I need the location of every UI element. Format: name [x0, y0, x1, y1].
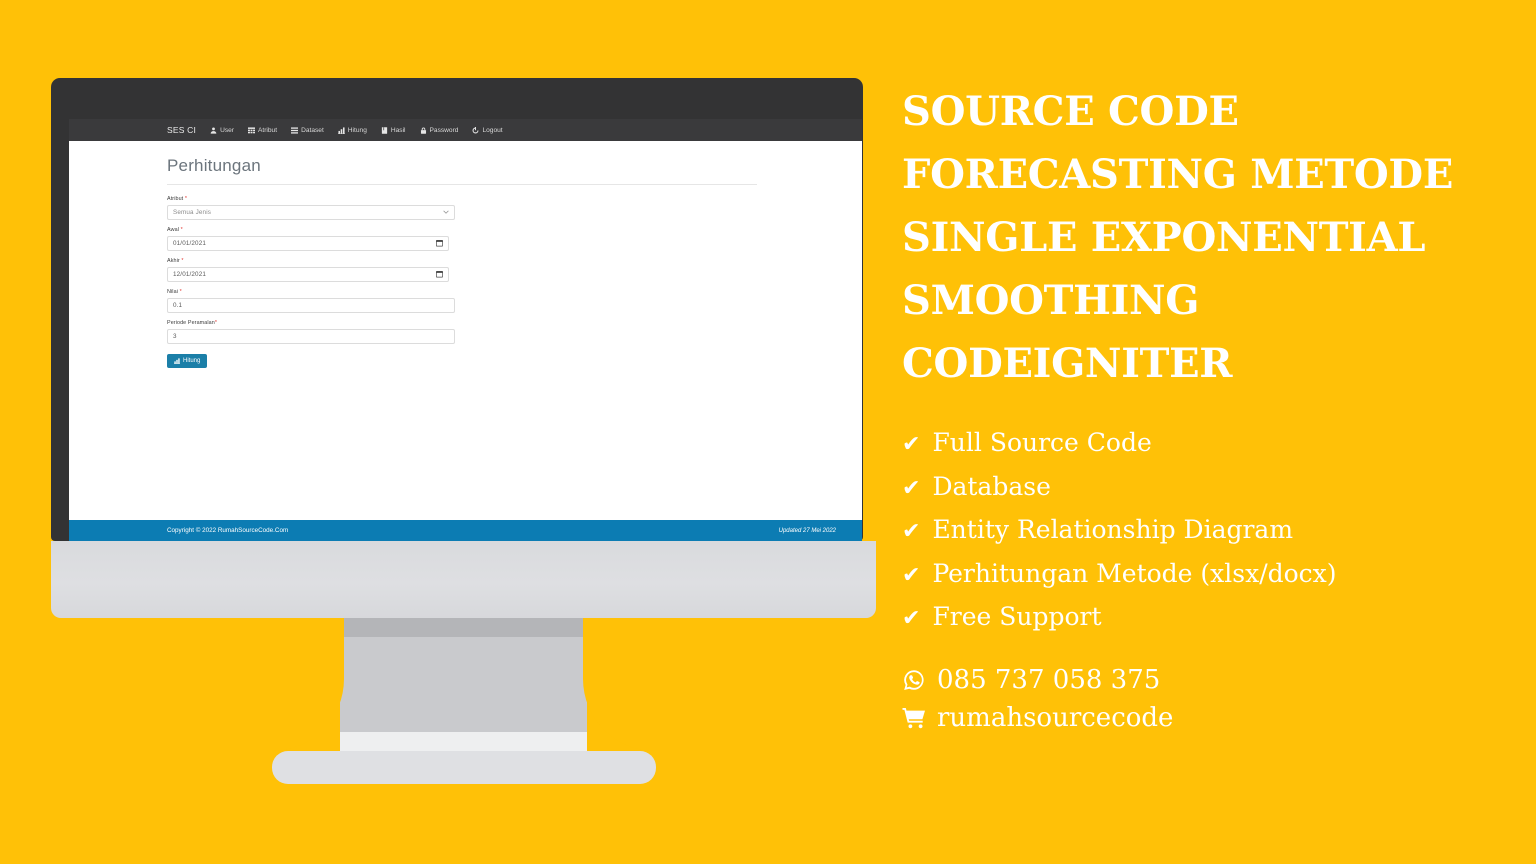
feature-label: Free Support	[932, 595, 1101, 639]
nav-label: Password	[430, 127, 459, 134]
feature-item: ✔ Full Source Code	[902, 421, 1536, 465]
user-icon	[210, 127, 217, 134]
feature-list: ✔ Full Source Code ✔ Database ✔ Entity R…	[902, 421, 1536, 639]
nav-label: Atribut	[258, 127, 277, 134]
check-icon: ✔	[902, 565, 920, 587]
footer-copyright: Copyright © 2022 RumahSourceCode.Com	[167, 527, 288, 534]
required-marker: *	[185, 196, 187, 202]
nav-item-hitung[interactable]: Hitung	[338, 127, 367, 134]
date-input-akhir[interactable]: 12/01/2021	[167, 267, 449, 282]
app-navbar: SES CI User Atribut	[69, 119, 862, 141]
nav-item-dataset[interactable]: Dataset	[291, 127, 324, 134]
whatsapp-icon	[902, 668, 926, 692]
check-icon: ✔	[902, 608, 920, 630]
feature-label: Perhitungan Metode (xlsx/docx)	[932, 552, 1336, 596]
bar-chart-icon	[174, 358, 180, 364]
monitor-mockup: SES CI User Atribut	[0, 0, 900, 800]
app-footer: Copyright © 2022 RumahSourceCode.Com Upd…	[69, 520, 862, 541]
navbar-brand[interactable]: SES CI	[167, 125, 196, 135]
check-icon: ✔	[902, 478, 920, 500]
required-marker: *	[215, 320, 217, 326]
form-group-awal: Awal * 01/01/2021	[167, 227, 862, 251]
label-periode: Periode Peramalan*	[167, 320, 862, 326]
bar-chart-icon	[338, 127, 345, 134]
required-marker: *	[181, 258, 183, 264]
monitor-stand-foot	[272, 751, 656, 784]
calendar-icon[interactable]	[436, 240, 443, 247]
form-group-periode: Periode Peramalan* 3	[167, 320, 862, 344]
promo-title: SOURCE CODE FORECASTING METODE SINGLE EX…	[902, 80, 1536, 395]
feature-item: ✔ Free Support	[902, 595, 1536, 639]
promo-title-line: SOURCE CODE	[902, 80, 1536, 143]
form-group-nilai: Nilai * 0.1	[167, 289, 862, 313]
neck-lower-band	[340, 732, 587, 751]
neck-curve-right	[583, 618, 655, 751]
nav-label: User	[220, 127, 234, 134]
date-input-awal[interactable]: 01/01/2021	[167, 236, 449, 251]
check-icon: ✔	[902, 521, 920, 543]
nav-item-atribut[interactable]: Atribut	[248, 127, 277, 134]
feature-label: Entity Relationship Diagram	[932, 508, 1293, 552]
neck-curve-left	[272, 618, 344, 751]
nav-item-password[interactable]: Password	[420, 127, 459, 134]
form-group-atribut: Atribut * Semua Jenis	[167, 196, 862, 220]
select-atribut[interactable]: Semua Jenis	[167, 205, 455, 220]
nav-label: Hasil	[391, 127, 406, 134]
check-icon: ✔	[902, 434, 920, 456]
nav-label: Dataset	[301, 127, 324, 134]
hitung-submit-button[interactable]: Hitung	[167, 354, 207, 368]
title-divider	[167, 184, 757, 185]
contact-whatsapp[interactable]: 085 737 058 375	[902, 661, 1536, 699]
nav-label: Hitung	[348, 127, 367, 134]
perhitungan-form: Atribut * Semua Jenis Awa	[167, 196, 862, 369]
grid-icon	[248, 127, 255, 134]
contact-block: 085 737 058 375 rumahsourcecode	[902, 661, 1536, 737]
page-content: Perhitungan Atribut * Semua Jenis	[69, 141, 862, 541]
contact-value: 085 737 058 375	[937, 661, 1160, 699]
label-atribut: Atribut *	[167, 196, 862, 202]
nav-label: Logout	[482, 127, 502, 134]
feature-item: ✔ Perhitungan Metode (xlsx/docx)	[902, 552, 1536, 596]
nav-item-logout[interactable]: Logout	[472, 127, 502, 134]
date-value: 01/01/2021	[173, 240, 206, 247]
feature-item: ✔ Entity Relationship Diagram	[902, 508, 1536, 552]
label-nilai: Nilai *	[167, 289, 862, 295]
select-value: Semua Jenis	[173, 209, 211, 216]
promo-title-line: SINGLE EXPONENTIAL	[902, 206, 1536, 269]
input-value: 0.1	[173, 302, 182, 309]
calendar-icon[interactable]	[436, 271, 443, 278]
list-icon	[291, 127, 298, 134]
monitor-bezel: SES CI User Atribut	[51, 78, 863, 541]
nav-item-user[interactable]: User	[210, 127, 234, 134]
monitor-stand-neck	[340, 618, 587, 751]
promo-title-line: SMOOTHING	[902, 269, 1536, 332]
neck-top-band	[340, 618, 587, 637]
sign-out-icon	[472, 127, 479, 134]
footer-updated: Updated 27 Mei 2022	[779, 528, 836, 534]
promo-panel: SOURCE CODE FORECASTING METODE SINGLE EX…	[902, 0, 1536, 864]
date-value: 12/01/2021	[173, 271, 206, 278]
page-title: Perhitungan	[167, 157, 862, 174]
button-label: Hitung	[183, 358, 200, 364]
nav-item-hasil[interactable]: Hasil	[381, 127, 406, 134]
label-awal: Awal *	[167, 227, 862, 233]
chevron-down-icon	[443, 210, 449, 214]
promo-title-line: FORECASTING METODE	[902, 143, 1536, 206]
contact-shop[interactable]: rumahsourcecode	[902, 699, 1536, 737]
label-akhir: Akhir *	[167, 258, 862, 264]
neck-mid-band	[340, 637, 587, 732]
input-nilai[interactable]: 0.1	[167, 298, 455, 313]
lock-icon	[420, 127, 427, 134]
input-value: 3	[173, 333, 177, 340]
feature-label: Full Source Code	[932, 421, 1151, 465]
cart-icon	[902, 706, 926, 730]
feature-label: Database	[932, 465, 1050, 509]
input-periode[interactable]: 3	[167, 329, 455, 344]
book-icon	[381, 127, 388, 134]
required-marker: *	[181, 227, 183, 233]
contact-value: rumahsourcecode	[937, 699, 1173, 737]
form-group-akhir: Akhir * 12/01/2021	[167, 258, 862, 282]
monitor-base-panel	[51, 541, 876, 618]
feature-item: ✔ Database	[902, 465, 1536, 509]
promo-title-line: CODEIGNITER	[902, 332, 1536, 395]
browser-screen: SES CI User Atribut	[69, 119, 862, 541]
required-marker: *	[180, 289, 182, 295]
